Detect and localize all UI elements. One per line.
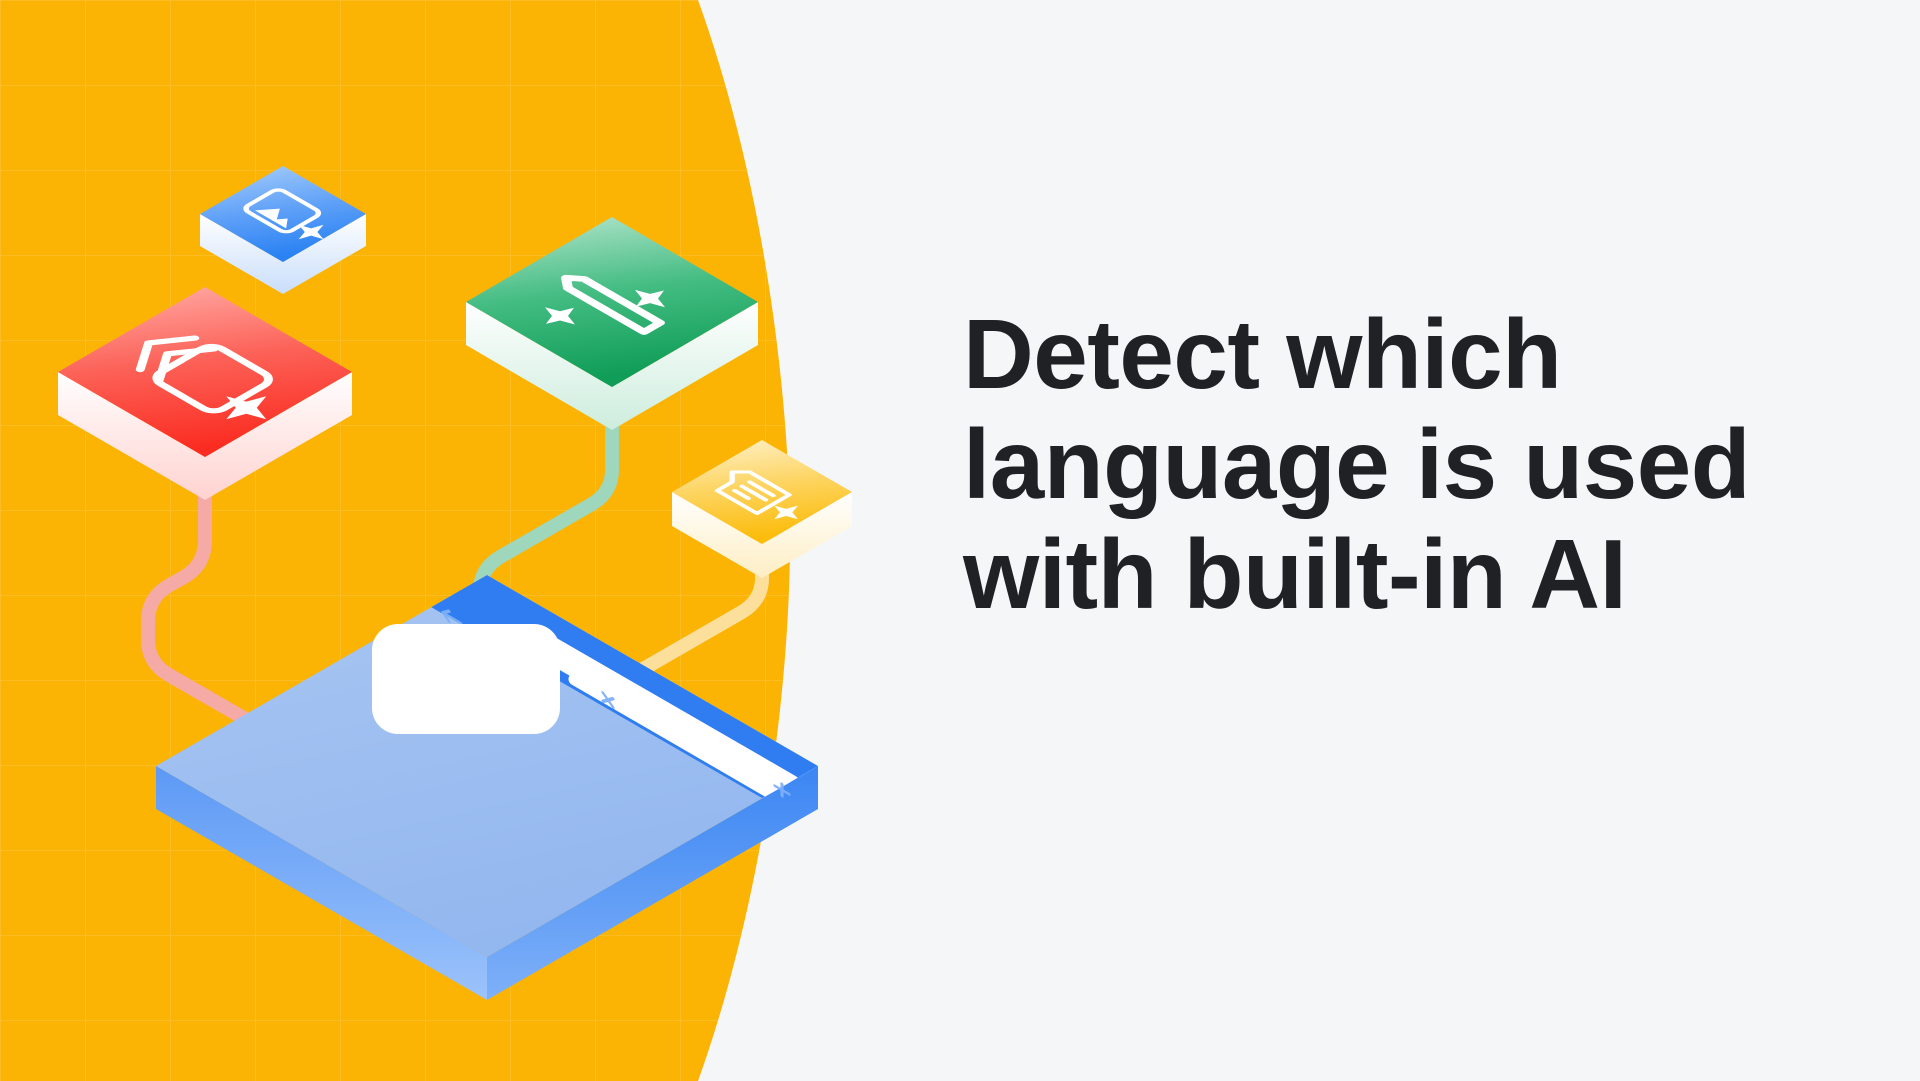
orange-background-panel <box>0 0 820 1081</box>
page-headline: Detect which language is used with built… <box>963 300 1783 629</box>
page-root: Detect which language is used with built… <box>0 0 1920 1081</box>
panel-shape <box>0 0 820 1081</box>
